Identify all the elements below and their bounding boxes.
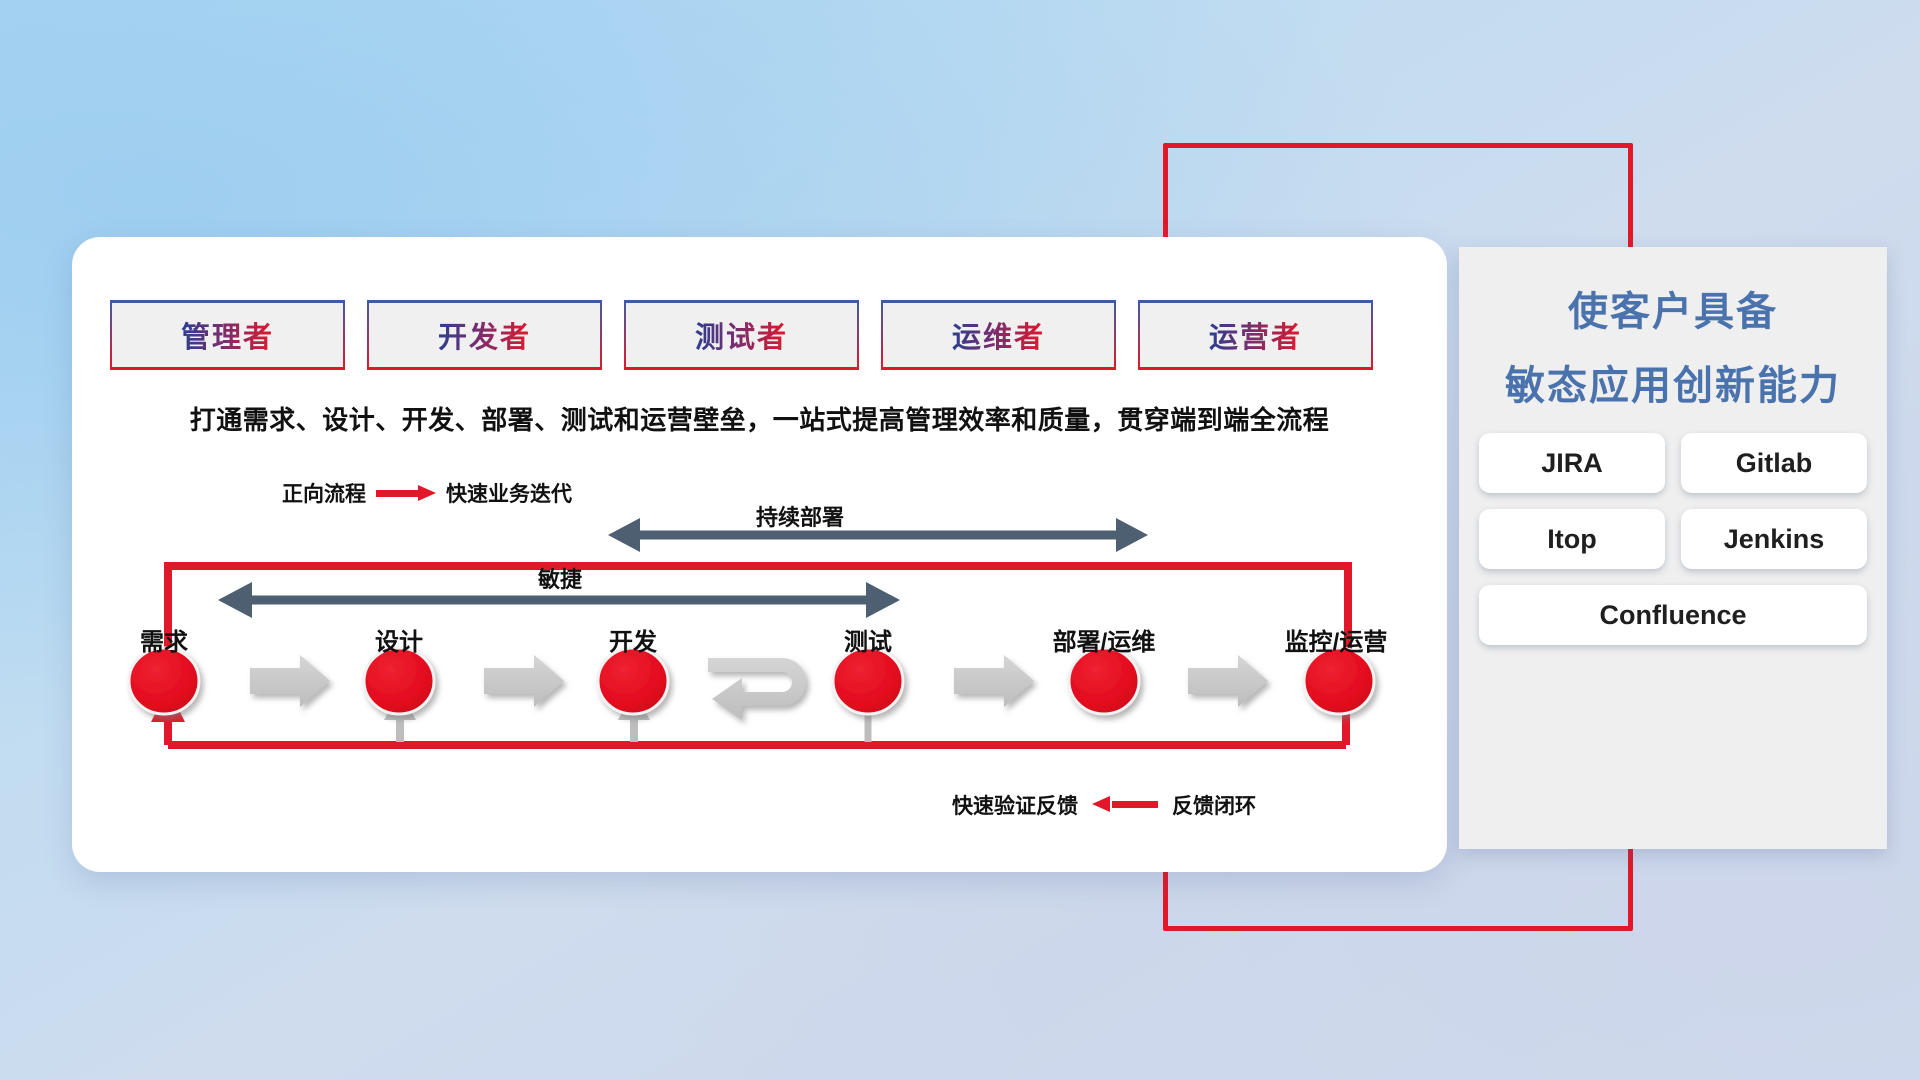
value-panel: 使客户具备 敏态应用创新能力 JIRA Gitlab Itop Jenkins … — [1459, 247, 1887, 849]
feedback-loop-caption: 快速验证反馈 反馈闭环 — [952, 790, 1256, 820]
panel-title-line1: 使客户具备 — [1459, 279, 1887, 337]
headline-text: 打通需求、设计、开发、部署、测试和运营壁垒，一站式提高管理效率和质量，贯穿端到端… — [72, 400, 1447, 437]
panel-title: 使客户具备 敏态应用创新能力 — [1459, 279, 1887, 411]
forward-flow-caption: 正向流程 快速业务迭代 — [282, 478, 572, 508]
role-label: 运维者 — [952, 314, 1045, 356]
tool-tag-jenkins[interactable]: Jenkins — [1681, 509, 1867, 569]
tool-tag-jira[interactable]: JIRA — [1479, 433, 1665, 493]
role-label: 测试者 — [695, 314, 788, 356]
role-border-left — [1138, 300, 1140, 370]
forward-flow-to: 快速业务迭代 — [446, 478, 572, 508]
role-border-right — [857, 300, 859, 370]
role-border-right — [1114, 300, 1116, 370]
stage-label-monitor-ops: 监控/运营 — [1285, 622, 1388, 657]
role-box-manager[interactable]: 管理者 — [110, 300, 345, 370]
tool-tag-confluence[interactable]: Confluence — [1479, 585, 1867, 645]
role-box-business-operator[interactable]: 运营者 — [1138, 300, 1373, 370]
role-border-right — [1371, 300, 1373, 370]
stage-label-testing: 测试 — [844, 622, 892, 657]
role-label: 管理者 — [181, 314, 274, 356]
role-label: 开发者 — [438, 314, 531, 356]
role-border-left — [110, 300, 112, 370]
span-label-agile: 敏捷 — [538, 562, 582, 594]
role-box-developer[interactable]: 开发者 — [367, 300, 602, 370]
span-label-continuous-deployment: 持续部署 — [756, 500, 844, 532]
arrow-right-icon — [376, 487, 436, 499]
stage-label-deploy-ops: 部署/运维 — [1053, 622, 1156, 657]
panel-title-line2: 敏态应用创新能力 — [1459, 353, 1887, 411]
feedback-right-label: 反馈闭环 — [1172, 790, 1256, 820]
tool-tag-list: JIRA Gitlab Itop Jenkins Confluence — [1459, 433, 1887, 645]
role-box-list: 管理者 开发者 测试者 运维者 运营者 — [110, 300, 1373, 370]
role-box-operator[interactable]: 运维者 — [881, 300, 1116, 370]
stage-label-requirement: 需求 — [140, 622, 188, 657]
stage-label-design: 设计 — [375, 622, 423, 657]
stage-label-development: 开发 — [609, 622, 657, 657]
tool-tag-gitlab[interactable]: Gitlab — [1681, 433, 1867, 493]
tool-tag-itop[interactable]: Itop — [1479, 509, 1665, 569]
feedback-left-label: 快速验证反馈 — [952, 790, 1078, 820]
role-box-tester[interactable]: 测试者 — [624, 300, 859, 370]
role-border-right — [600, 300, 602, 370]
role-border-left — [881, 300, 883, 370]
forward-flow-from: 正向流程 — [282, 478, 366, 508]
arrow-left-icon — [1092, 798, 1158, 812]
role-border-left — [367, 300, 369, 370]
role-border-left — [624, 300, 626, 370]
role-label: 运营者 — [1209, 314, 1302, 356]
role-border-right — [343, 300, 345, 370]
